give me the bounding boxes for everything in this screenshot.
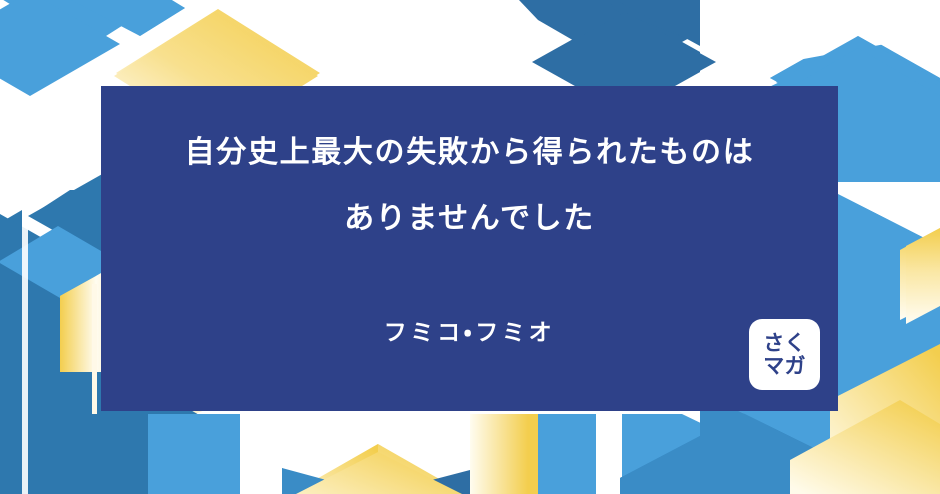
sakumaga-logo[interactable]: さく マガ — [749, 319, 820, 390]
author-name: フミコ・フミオ — [101, 321, 838, 344]
headline-line-1: 自分史上最大の失敗から得られたものは — [101, 138, 838, 168]
headline-line-2: ありませんでした — [101, 204, 838, 234]
title-card: 自分史上最大の失敗から得られたものは ありませんでした フミコ・フミオ さく マ… — [101, 86, 838, 411]
logo-line-2: マガ — [763, 356, 805, 377]
headline-block: 自分史上最大の失敗から得られたものは ありませんでした — [101, 138, 838, 234]
article-thumbnail-card: 自分史上最大の失敗から得られたものは ありませんでした フミコ・フミオ さく マ… — [0, 0, 940, 494]
logo-line-1: さく — [763, 333, 805, 354]
